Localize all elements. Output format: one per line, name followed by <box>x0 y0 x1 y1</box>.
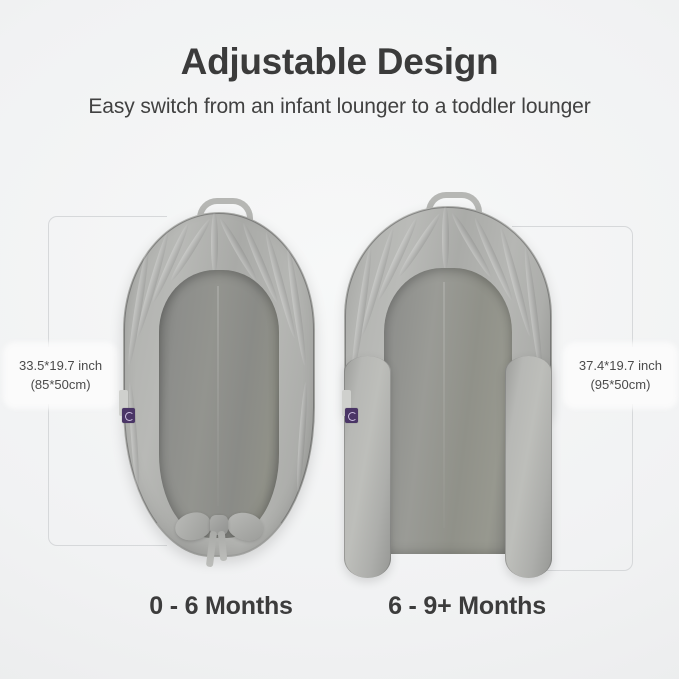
bow-loop-right <box>224 509 265 544</box>
bow-tail-two <box>218 531 228 561</box>
dimension-metric-infant: (85*50cm) <box>19 375 102 394</box>
dimension-imperial-infant: 33.5*19.7 inch <box>19 358 102 373</box>
header: Adjustable Design Easy switch from an in… <box>0 38 679 122</box>
bow-tail-one <box>206 531 217 568</box>
product-image-infant-lounger <box>123 212 315 557</box>
dimension-imperial-toddler: 37.4*19.7 inch <box>579 358 662 373</box>
tie-bow-infant <box>175 507 263 565</box>
infographic-canvas: Adjustable Design Easy switch from an in… <box>0 0 679 679</box>
dimension-metric-toddler: (95*50cm) <box>579 375 662 394</box>
bumper-arm-left <box>344 356 391 578</box>
bumper-arm-right <box>505 356 552 578</box>
dimension-label-infant: 33.5*19.7 inch (85*50cm) <box>8 347 113 404</box>
page-title: Adjustable Design <box>0 38 679 86</box>
inner-mattress-toddler <box>384 268 512 554</box>
caption-toddler-lounger: 6 - 9+ Months <box>372 592 562 621</box>
brand-tag-infant <box>122 408 135 423</box>
page-subtitle: Easy switch from an infant lounger to a … <box>0 92 679 122</box>
product-image-toddler-lounger <box>344 206 552 578</box>
bow-loop-left <box>172 509 213 544</box>
inner-mattress-infant <box>159 270 279 538</box>
brand-tag-toddler <box>345 408 358 423</box>
dimension-label-toddler: 37.4*19.7 inch (95*50cm) <box>568 347 673 404</box>
caption-infant-lounger: 0 - 6 Months <box>128 592 314 621</box>
